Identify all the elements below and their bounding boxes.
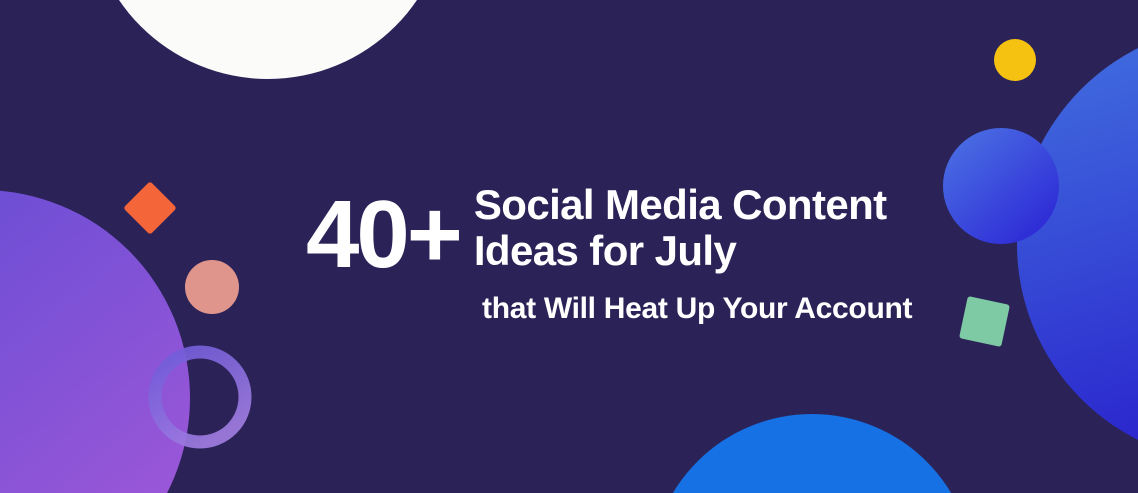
decorative-background <box>0 0 1138 493</box>
salmon-circle-icon <box>185 260 239 314</box>
promo-banner: 40+ Social Media Content Ideas for July … <box>0 0 1138 493</box>
yellow-circle-icon <box>994 39 1036 81</box>
green-diamond-icon <box>959 296 1010 347</box>
medium-blue-circle-icon <box>943 128 1059 244</box>
